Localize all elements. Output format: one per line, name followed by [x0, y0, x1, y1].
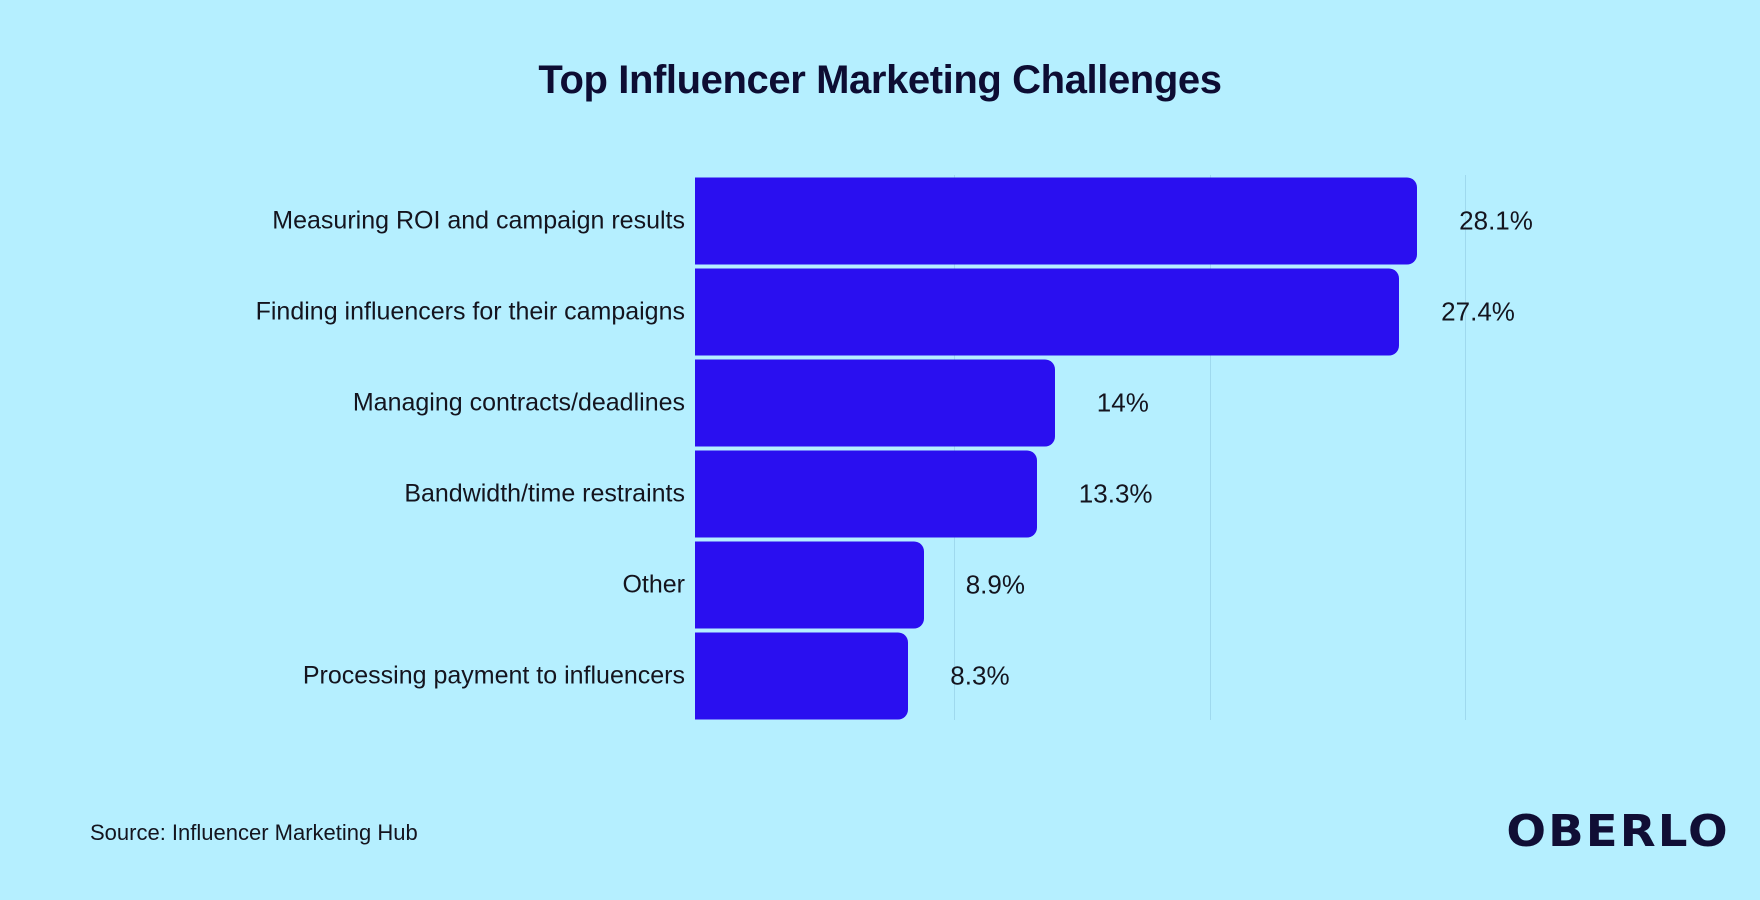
- bar-row: Finding influencers for their campaigns2…: [0, 266, 1760, 357]
- oberlo-logo: OBERLO: [1507, 806, 1730, 857]
- bar-group: 13.3%: [695, 450, 1153, 537]
- bar-value-label: 13.3%: [1079, 478, 1153, 509]
- category-label: Measuring ROI and campaign results: [272, 206, 685, 235]
- bar: [695, 450, 1037, 537]
- chart-page: Top Influencer Marketing Challenges Meas…: [0, 0, 1760, 900]
- source-note: Source: Influencer Marketing Hub: [90, 820, 418, 846]
- bar: [695, 268, 1399, 355]
- category-label: Other: [622, 570, 685, 599]
- bar-row: Bandwidth/time restraints13.3%: [0, 448, 1760, 539]
- category-label: Processing payment to influencers: [303, 661, 685, 690]
- bar-row: Measuring ROI and campaign results28.1%: [0, 175, 1760, 266]
- bar-row: Processing payment to influencers8.3%: [0, 630, 1760, 721]
- category-label: Managing contracts/deadlines: [353, 388, 685, 417]
- bar-value-label: 14%: [1097, 387, 1149, 418]
- bar-value-label: 27.4%: [1441, 296, 1515, 327]
- bar: [695, 632, 908, 719]
- bar-value-label: 8.3%: [950, 660, 1009, 691]
- bar-group: 14%: [695, 359, 1149, 446]
- bar-value-label: 28.1%: [1459, 205, 1533, 236]
- bar: [695, 177, 1417, 264]
- bar-group: 8.9%: [695, 541, 1025, 628]
- bar: [695, 359, 1055, 446]
- bar-group: 8.3%: [695, 632, 1010, 719]
- bar-row: Other8.9%: [0, 539, 1760, 630]
- category-label: Bandwidth/time restraints: [404, 479, 685, 508]
- category-label: Finding influencers for their campaigns: [256, 297, 685, 326]
- bar-group: 28.1%: [695, 177, 1533, 264]
- bar-group: 27.4%: [695, 268, 1515, 355]
- bar-row: Managing contracts/deadlines14%: [0, 357, 1760, 448]
- page-title: Top Influencer Marketing Challenges: [0, 58, 1760, 103]
- bar-value-label: 8.9%: [966, 569, 1025, 600]
- bar: [695, 541, 924, 628]
